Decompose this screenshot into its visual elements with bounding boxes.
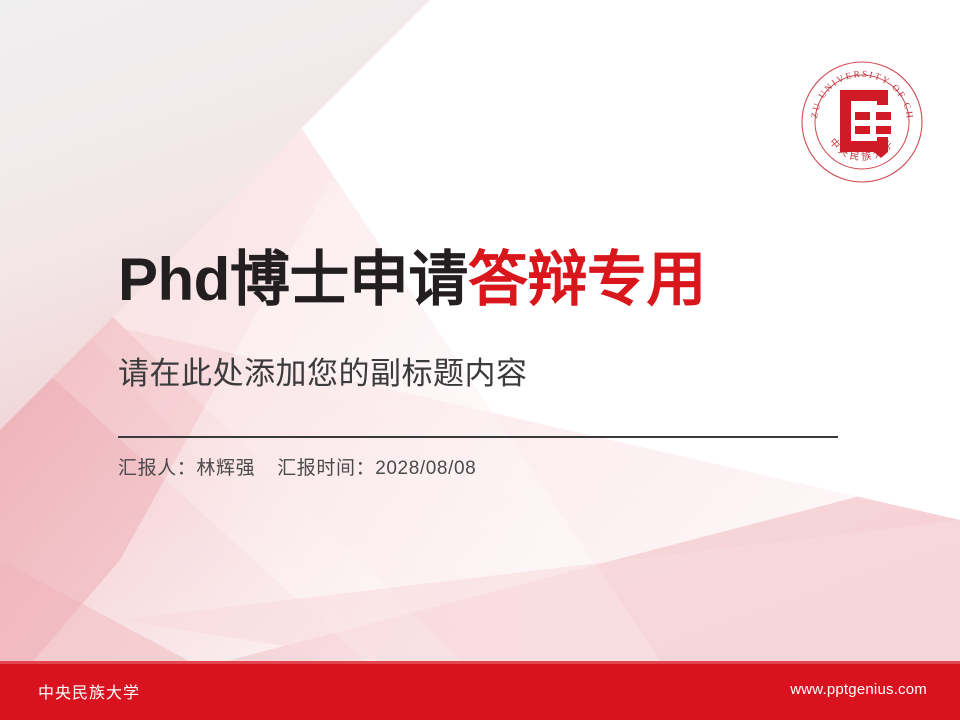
footer-website[interactable]: www.pptgenius.com [790, 681, 927, 698]
title-accent-part: 答辩专用 [468, 246, 706, 313]
slide-byline: 汇报人：林辉强汇报时间：2028/08/08 [118, 453, 476, 480]
presenter-label: 汇报人：林辉强 [118, 458, 255, 479]
slide-title: Phd博士申请答辩专用 [118, 246, 706, 313]
university-logo: MINZU UNIVERSITY OF CHINA 中央民族大学 [800, 60, 924, 184]
footer-top-hairline [0, 661, 960, 664]
minzu-university-seal-icon: MINZU UNIVERSITY OF CHINA 中央民族大学 [800, 60, 924, 184]
footer-organization: 中央民族大学 [38, 679, 140, 703]
presentation-slide: MINZU UNIVERSITY OF CHINA 中央民族大学 [0, 0, 960, 720]
title-dark-part: Phd博士申请 [118, 246, 468, 313]
title-divider-line [118, 436, 838, 438]
report-date-label: 汇报时间：2028/08/08 [277, 458, 476, 479]
logo-emblem-mark [840, 90, 891, 158]
slide-subtitle: 请在此处添加您的副标题内容 [118, 348, 528, 393]
footer-bar: 中央民族大学 www.pptgenius.com [0, 661, 960, 720]
